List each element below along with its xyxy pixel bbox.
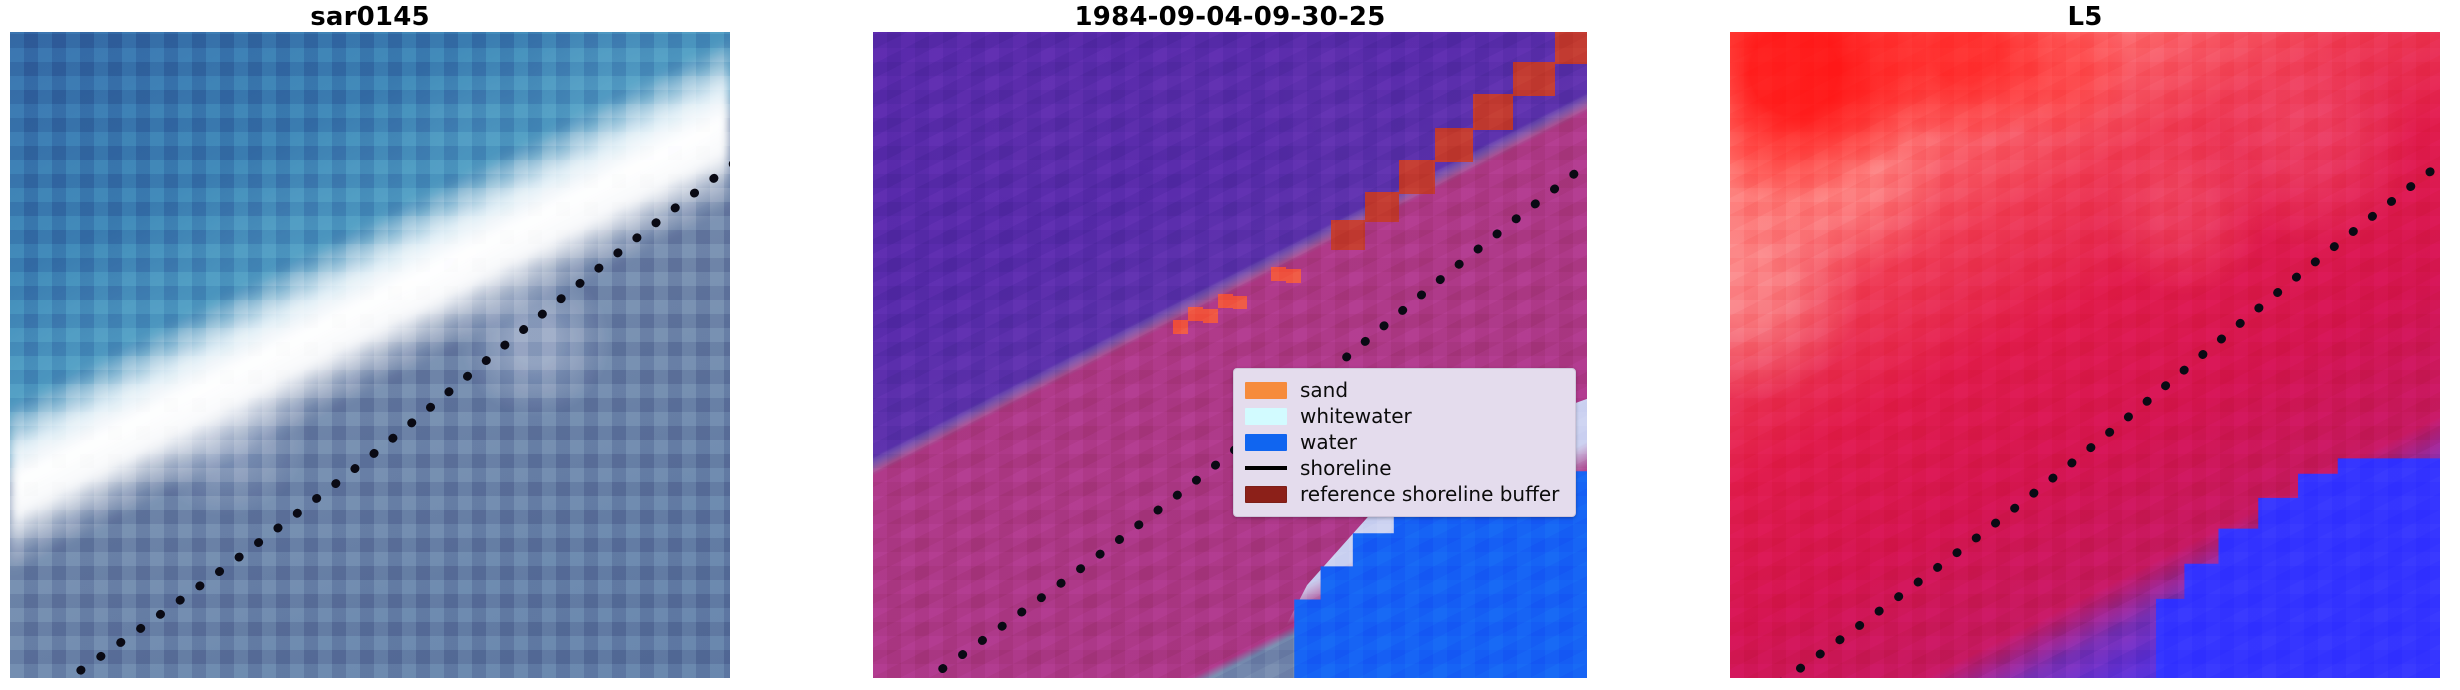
pixel-mosaic-layer: [10, 32, 730, 678]
panel-rgb: sar0145: [10, 0, 730, 690]
whitewater-swatch-icon: [1245, 408, 1287, 425]
legend-label-whitewater: whitewater: [1300, 406, 1412, 426]
legend-item-sand: sand: [1245, 377, 1563, 403]
legend-label-sand: sand: [1300, 380, 1348, 400]
shoreline-line-icon: [1245, 466, 1287, 470]
legend-item-shoreline: shoreline: [1245, 455, 1563, 481]
panel-index-title: L5: [1730, 2, 2440, 32]
legend-label-reference-buffer: reference shoreline buffer: [1300, 484, 1559, 504]
panel-index: L5: [1730, 0, 2440, 690]
legend-label-shoreline: shoreline: [1300, 458, 1392, 478]
figure-canvas: sar0145 1984-09-04-09-30-25: [0, 0, 2460, 690]
panel-classified-image[interactable]: sand whitewater water shoreline referenc…: [873, 32, 1587, 678]
pixel-mosaic-layer: [873, 32, 1587, 678]
panel-index-image[interactable]: [1730, 32, 2440, 678]
legend-label-water: water: [1300, 432, 1357, 452]
reference-buffer-swatch-icon: [1245, 486, 1287, 503]
panel-rgb-title: sar0145: [10, 2, 730, 32]
sand-swatch-icon: [1245, 382, 1287, 399]
legend-item-whitewater: whitewater: [1245, 403, 1563, 429]
water-swatch-icon: [1245, 434, 1287, 451]
legend: sand whitewater water shoreline referenc…: [1233, 368, 1576, 517]
panel-classified: 1984-09-04-09-30-25: [873, 0, 1587, 690]
pixel-mosaic-layer: [1730, 32, 2440, 678]
panel-classified-title: 1984-09-04-09-30-25: [873, 2, 1587, 32]
legend-item-reference-buffer: reference shoreline buffer: [1245, 481, 1563, 507]
legend-item-water: water: [1245, 429, 1563, 455]
panel-rgb-image[interactable]: [10, 32, 730, 678]
